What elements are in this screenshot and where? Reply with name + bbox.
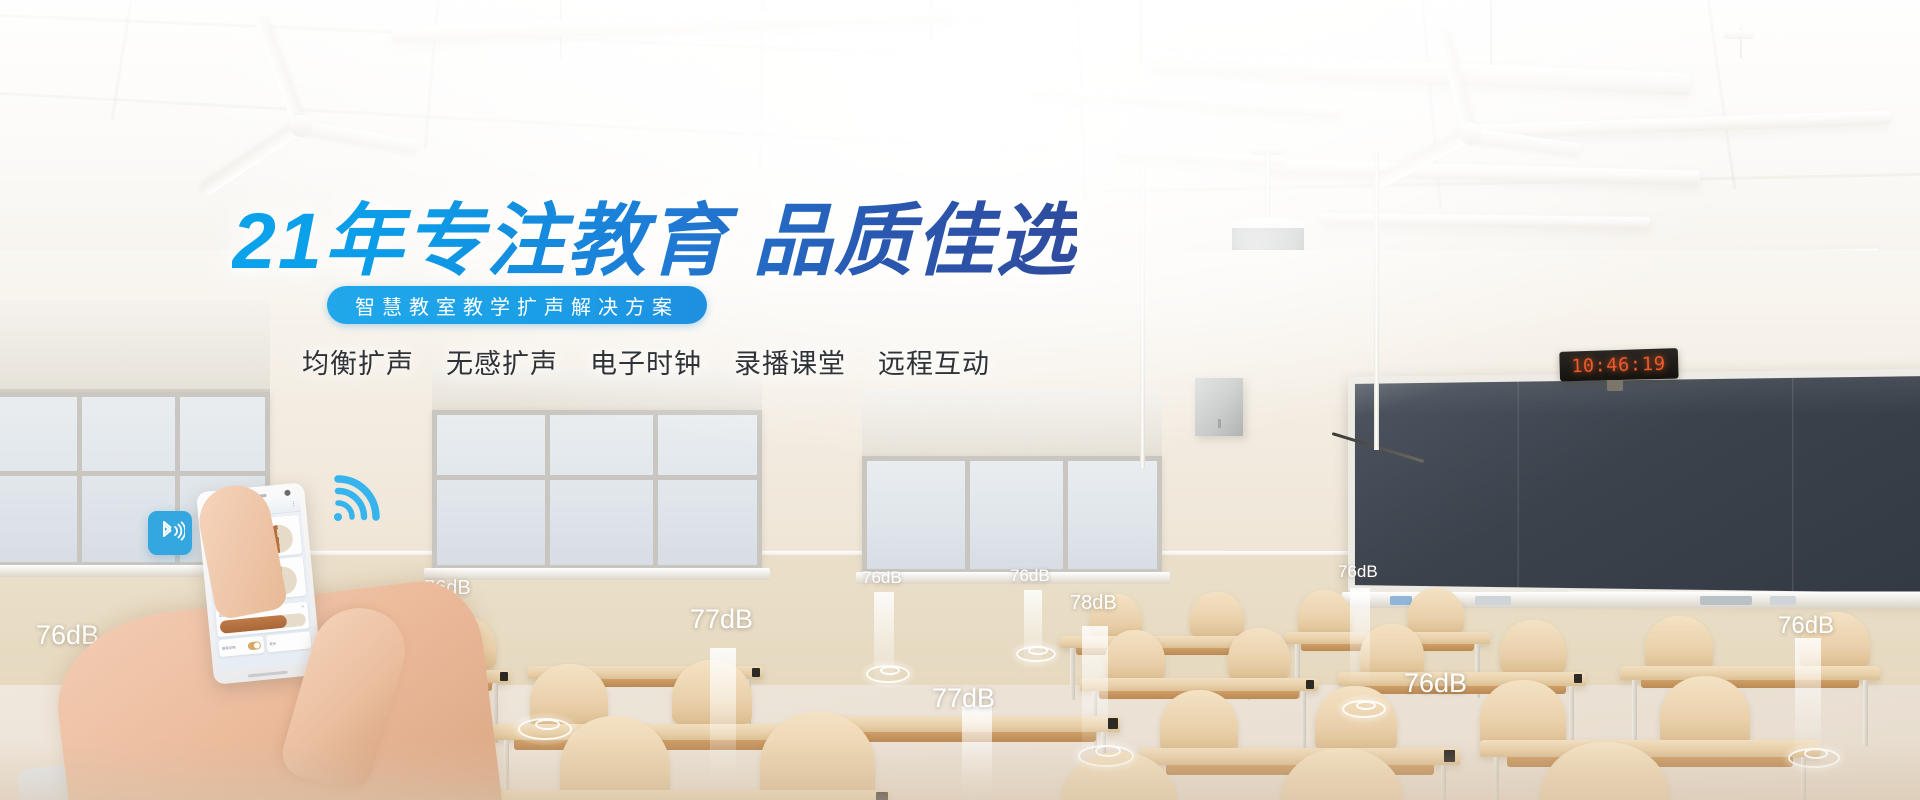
- wall-speaker-icon: [1195, 378, 1243, 436]
- smart-blackboard: [1348, 368, 1920, 600]
- sound-ripple: [1788, 748, 1840, 768]
- feature-item-2: 电子时钟: [590, 342, 702, 381]
- db-marker-board-mid: 76dB: [1404, 668, 1467, 699]
- more-button[interactable]: 更多: [266, 631, 312, 652]
- db-marker-front-center: 77dB: [932, 683, 995, 714]
- pendant-speaker-rod: [1265, 150, 1270, 222]
- bluetooth-icon: [148, 511, 192, 555]
- page-title: 21年专注教育 品质佳选: [232, 176, 1077, 291]
- feature-item-4: 远程互动: [878, 342, 990, 381]
- fan-mount: [1724, 30, 1754, 39]
- mute-toggle-label: 静音切换: [222, 645, 236, 651]
- tagline-pill: 智慧教室教学扩声解决方案: [327, 286, 707, 324]
- clock-mount: [1607, 380, 1623, 391]
- db-marker-center-window-a: 76dB: [862, 568, 902, 588]
- front-camera-icon: [284, 490, 291, 497]
- board-control: [1700, 596, 1752, 605]
- wifi-signal-icon: [325, 470, 385, 530]
- classroom-audio-banner: 21年专注教育 品质佳选 智慧教室教学扩声解决方案 均衡扩声 无感扩声 电子时钟…: [0, 0, 1920, 800]
- overflow-menu-icon[interactable]: ⋮: [290, 501, 297, 508]
- sound-ripple: [1078, 745, 1134, 767]
- feature-list: 均衡扩声 无感扩声 电子时钟 录播课堂 远程互动: [302, 342, 990, 381]
- window-blind: [862, 388, 1162, 460]
- board-control: [1770, 596, 1796, 605]
- feature-item-1: 无感扩声: [446, 342, 558, 381]
- feature-item-0: 均衡扩声: [302, 342, 414, 381]
- electronic-clock: 10:46:19: [1559, 348, 1678, 381]
- mute-toggle-button[interactable]: 静音切换: [218, 636, 264, 657]
- window-blind: [0, 300, 270, 392]
- ceiling-pole: [1140, 168, 1145, 468]
- sound-ripple: [1342, 700, 1386, 718]
- db-marker-center-window-b: 76dB: [1010, 566, 1050, 586]
- board-logo: [1390, 596, 1412, 605]
- home-indicator: [248, 671, 288, 678]
- db-marker-right-edge: 76dB: [1778, 612, 1834, 640]
- add-icon[interactable]: +: [301, 605, 304, 610]
- db-marker-board-left: 76dB: [1338, 562, 1378, 582]
- toggle-switch[interactable]: [247, 641, 261, 650]
- sound-ripple: [1016, 646, 1056, 662]
- sound-ripple: [866, 665, 910, 683]
- window-left-2: [432, 410, 762, 570]
- clock-time: 10:46:19: [1571, 353, 1666, 378]
- board-control: [1475, 596, 1511, 605]
- ceiling-pole: [1374, 150, 1379, 450]
- feature-item-3: 录播课堂: [734, 342, 846, 381]
- more-button-label: 更多: [269, 641, 276, 647]
- window-sill: [424, 568, 770, 580]
- light-wire: [1140, 0, 1142, 64]
- window-left-3: [862, 456, 1162, 574]
- db-marker-center-right: 78dB: [1070, 592, 1117, 615]
- db-marker-center-left: 77dB: [690, 604, 753, 635]
- tagline-text: 智慧教室教学扩声解决方案: [355, 291, 679, 320]
- sound-ripple: [518, 718, 572, 740]
